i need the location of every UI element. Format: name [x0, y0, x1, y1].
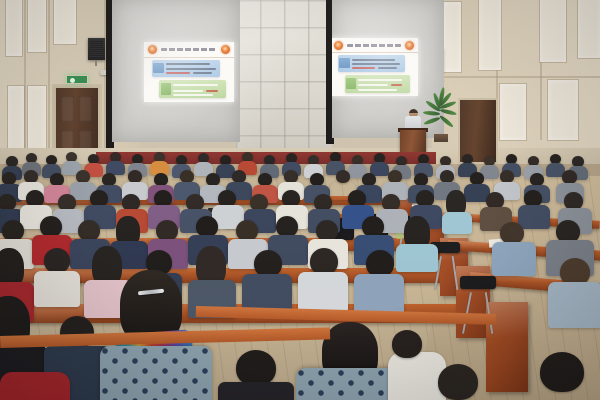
- slide-title-bar: [332, 38, 418, 53]
- org-logo-right-icon: [221, 45, 230, 54]
- slide-title-text: [347, 44, 402, 47]
- chair: [460, 276, 496, 289]
- wall-panel: [500, 84, 526, 140]
- slide-green-tab: [161, 83, 171, 95]
- wall-panel: [54, 0, 76, 44]
- presentation-slide: [144, 42, 234, 102]
- wall-panel: [578, 0, 600, 58]
- wall-panel: [548, 80, 578, 140]
- slide-title-bar: [144, 42, 234, 58]
- slide-blue-tab: [339, 58, 350, 68]
- stage-door[interactable]: [460, 100, 496, 162]
- wall-panel: [443, 2, 461, 72]
- plant-pot: [434, 134, 448, 142]
- slide-green-tab: [346, 78, 356, 89]
- org-logo-right-icon: [405, 41, 414, 50]
- projection-screen-left: [112, 0, 240, 142]
- wall-panel: [28, 0, 46, 52]
- slide-blue-box: [338, 55, 405, 71]
- presentation-slide: [332, 38, 418, 96]
- slide-green-box: [345, 75, 410, 92]
- org-logo-left-icon: [334, 41, 343, 50]
- slide-blue-tab: [153, 63, 164, 73]
- exit-sign: [66, 75, 88, 84]
- wall-speaker: [88, 38, 105, 60]
- org-logo-left-icon: [148, 45, 157, 54]
- slide-green-box: [159, 80, 226, 98]
- wall-panel: [540, 0, 566, 62]
- center-grid-panel-wall: [236, 0, 332, 150]
- slide-title-text: [161, 48, 218, 51]
- potted-palm: [424, 98, 458, 140]
- patterned-coat: [100, 346, 212, 400]
- wall-panel: [479, 0, 501, 70]
- wall-panel: [6, 0, 22, 56]
- slide-blue-box: [152, 60, 220, 77]
- lecture-hall-photo: [0, 0, 600, 400]
